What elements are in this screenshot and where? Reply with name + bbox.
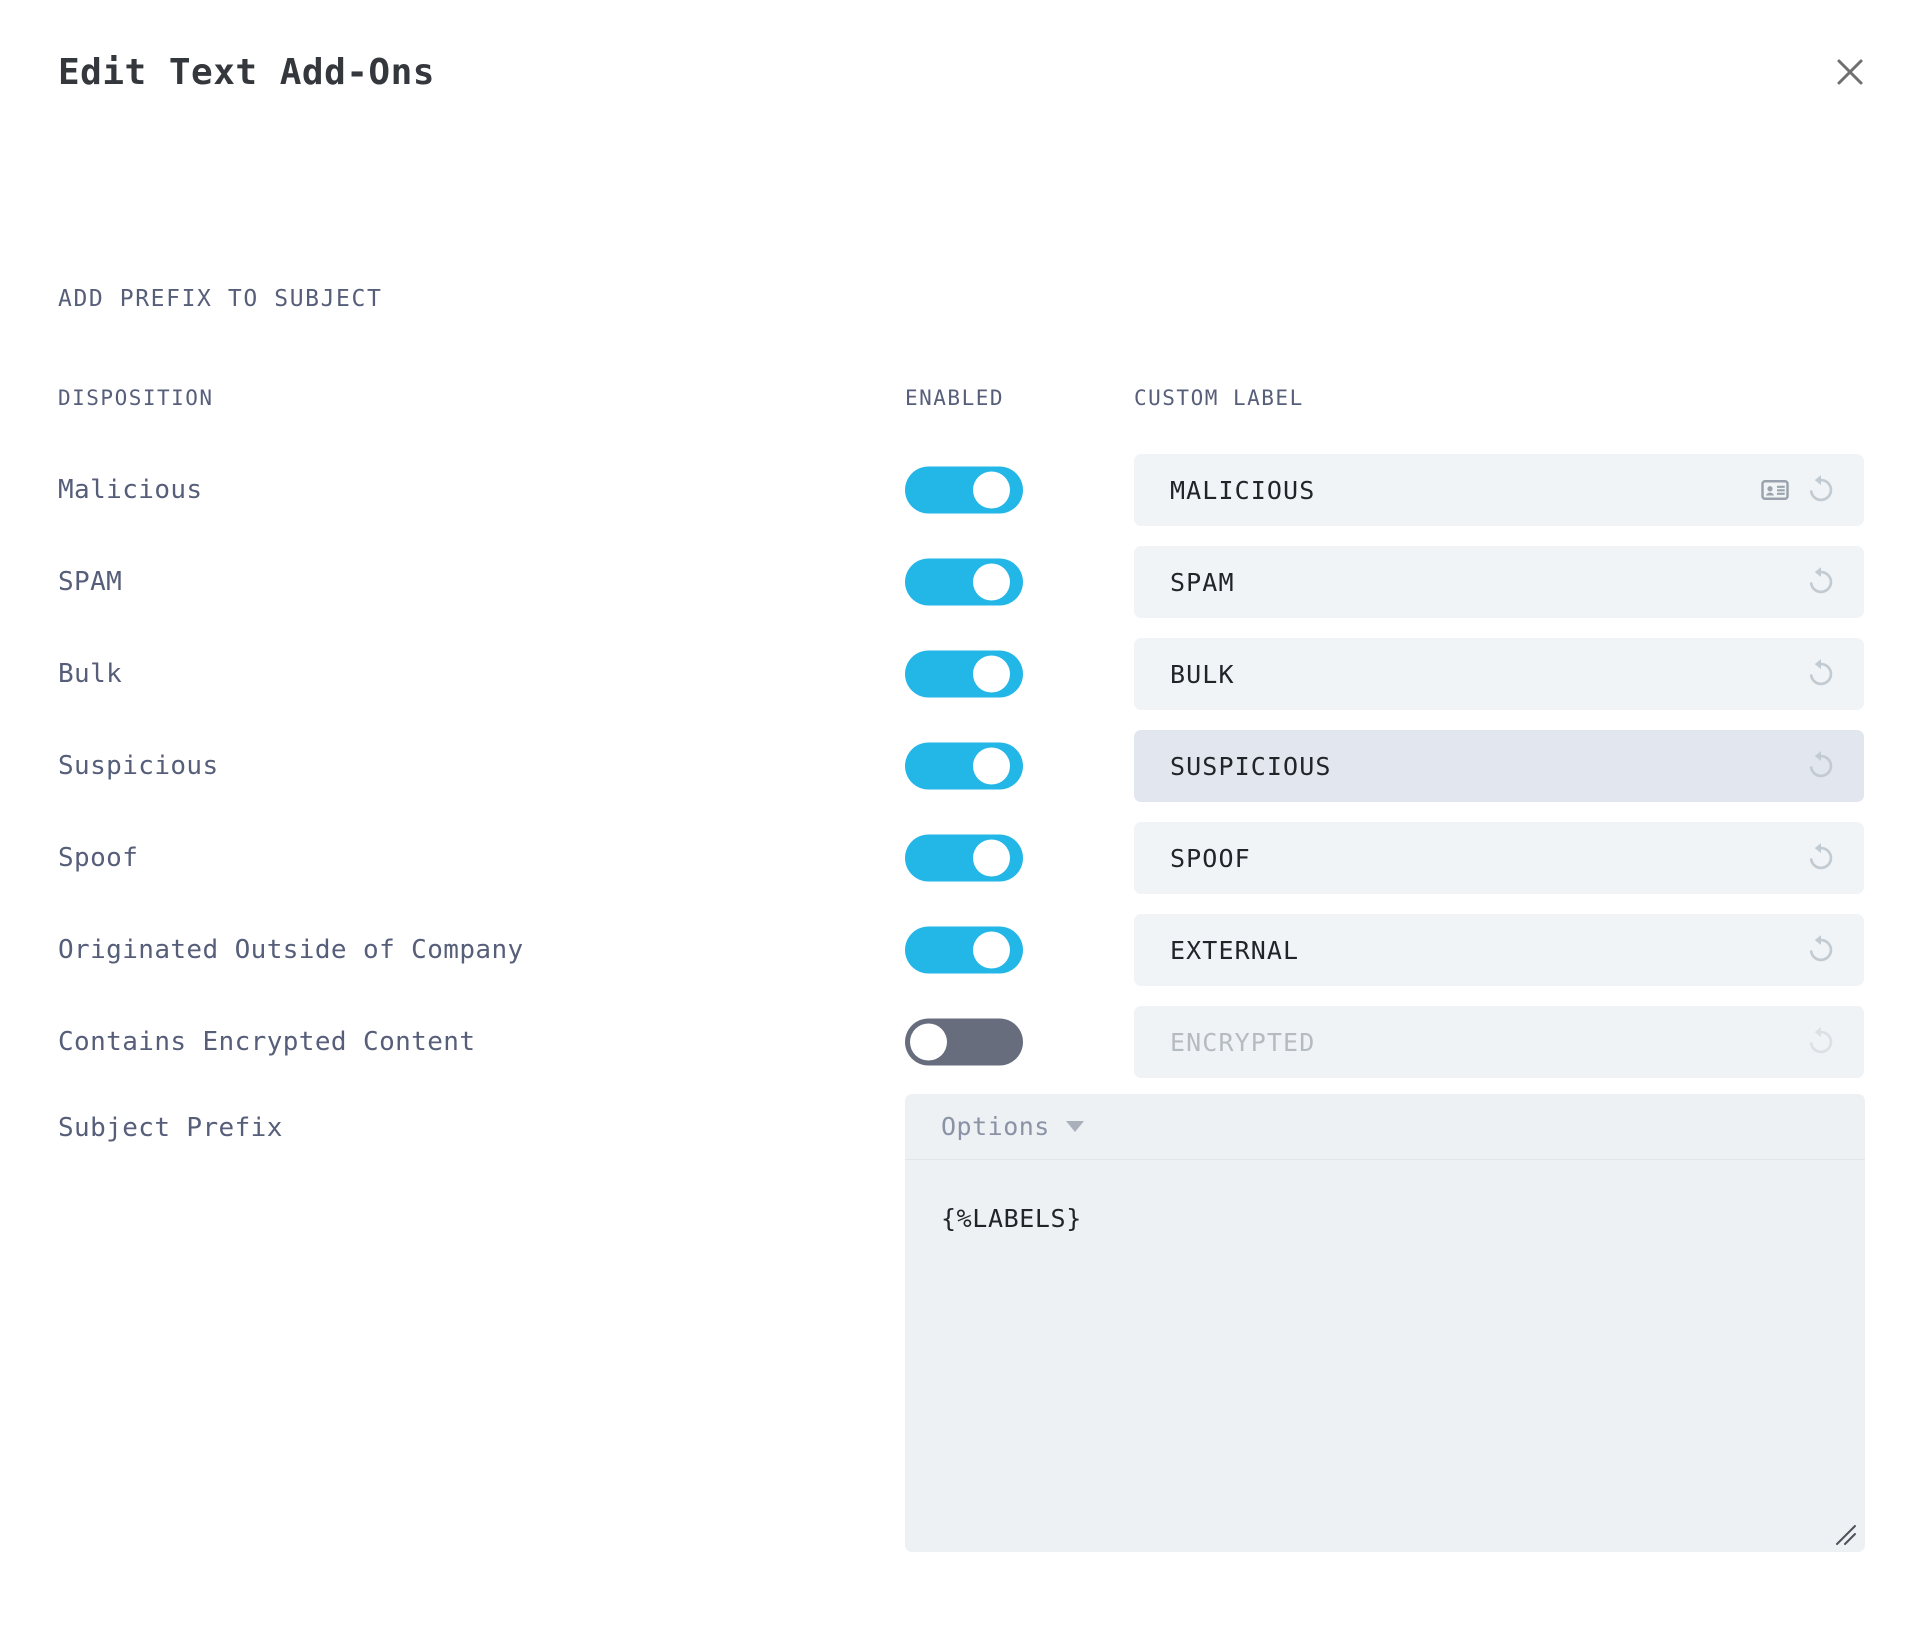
reset-icon[interactable] (1804, 749, 1838, 783)
table-body: MaliciousMALICIOUSSPAMSPAMBulkBULKSuspic… (0, 444, 1908, 1088)
close-icon (1832, 54, 1868, 90)
field-actions (1804, 749, 1864, 783)
contact-card-icon[interactable] (1760, 475, 1790, 505)
custom-label-field[interactable]: SPOOF (1134, 822, 1864, 894)
subject-prefix-editor: Options {%LABELS} (905, 1094, 1865, 1552)
custom-label-value: SUSPICIOUS (1134, 752, 1804, 781)
page-title: Edit Text Add-Ons (58, 52, 435, 93)
toggle-knob (910, 1024, 947, 1061)
custom-label-value: EXTERNAL (1134, 936, 1804, 965)
custom-label-field[interactable]: SUSPICIOUS (1134, 730, 1864, 802)
disposition-label: Originated Outside of Company (58, 935, 524, 965)
custom-label-value: ENCRYPTED (1134, 1028, 1804, 1057)
disposition-label: Bulk (58, 659, 122, 689)
reset-icon[interactable] (1804, 841, 1838, 875)
table-row: Originated Outside of CompanyEXTERNAL (0, 904, 1908, 996)
enabled-toggle[interactable] (905, 1019, 1023, 1066)
table-row: MaliciousMALICIOUS (0, 444, 1908, 536)
toggle-knob (973, 564, 1010, 601)
disposition-label: Malicious (58, 475, 202, 505)
table-row: SuspiciousSUSPICIOUS (0, 720, 1908, 812)
chevron-down-icon (1066, 1121, 1084, 1132)
enabled-toggle[interactable] (905, 743, 1023, 790)
disposition-label: Contains Encrypted Content (58, 1027, 475, 1057)
field-actions (1804, 933, 1864, 967)
custom-label-field[interactable]: SPAM (1134, 546, 1864, 618)
field-actions (1760, 473, 1864, 507)
options-dropdown-label: Options (941, 1112, 1050, 1141)
enabled-toggle[interactable] (905, 651, 1023, 698)
dialog-header: Edit Text Add-Ons (0, 0, 1908, 150)
enabled-toggle[interactable] (905, 467, 1023, 514)
disposition-label: Spoof (58, 843, 138, 873)
custom-label-field[interactable]: BULK (1134, 638, 1864, 710)
table-header-row: DISPOSITION ENABLED CUSTOM LABEL (0, 386, 1908, 444)
options-dropdown[interactable]: Options (905, 1094, 1865, 1160)
enabled-toggle[interactable] (905, 559, 1023, 606)
toggle-knob (973, 840, 1010, 877)
custom-label-value: SPAM (1134, 568, 1804, 597)
custom-label-value: BULK (1134, 660, 1804, 689)
add-prefix-table: DISPOSITION ENABLED CUSTOM LABEL Malicio… (0, 386, 1908, 444)
custom-label-field[interactable]: MALICIOUS (1134, 454, 1864, 526)
enabled-toggle[interactable] (905, 835, 1023, 882)
table-row: SpoofSPOOF (0, 812, 1908, 904)
custom-label-value: SPOOF (1134, 844, 1804, 873)
resize-grip-icon[interactable] (1835, 1524, 1857, 1546)
custom-label-value: MALICIOUS (1134, 476, 1760, 505)
column-header-disposition: DISPOSITION (58, 386, 214, 410)
subject-prefix-value: {%LABELS} (941, 1204, 1082, 1233)
field-actions (1804, 565, 1864, 599)
column-header-custom-label: CUSTOM LABEL (1134, 386, 1304, 410)
reset-icon[interactable] (1804, 657, 1838, 691)
reset-icon[interactable] (1804, 933, 1838, 967)
field-actions (1804, 841, 1864, 875)
toggle-knob (973, 748, 1010, 785)
column-header-enabled: ENABLED (905, 386, 1004, 410)
disposition-label: SPAM (58, 567, 122, 597)
reset-icon[interactable] (1804, 565, 1838, 599)
toggle-knob (973, 472, 1010, 509)
field-actions (1804, 657, 1864, 691)
subject-prefix-textarea[interactable]: {%LABELS} (905, 1160, 1865, 1552)
section-heading: ADD PREFIX TO SUBJECT (58, 286, 382, 312)
table-row: Contains Encrypted ContentENCRYPTED (0, 996, 1908, 1088)
subject-prefix-label: Subject Prefix (58, 1113, 283, 1143)
reset-icon (1804, 1025, 1838, 1059)
toggle-knob (973, 932, 1010, 969)
table-row: SPAMSPAM (0, 536, 1908, 628)
custom-label-field: ENCRYPTED (1134, 1006, 1864, 1078)
reset-icon[interactable] (1804, 473, 1838, 507)
close-button[interactable] (1818, 40, 1882, 104)
toggle-knob (973, 656, 1010, 693)
disposition-label: Suspicious (58, 751, 219, 781)
enabled-toggle[interactable] (905, 927, 1023, 974)
table-row: BulkBULK (0, 628, 1908, 720)
custom-label-field[interactable]: EXTERNAL (1134, 914, 1864, 986)
field-actions (1804, 1025, 1864, 1059)
